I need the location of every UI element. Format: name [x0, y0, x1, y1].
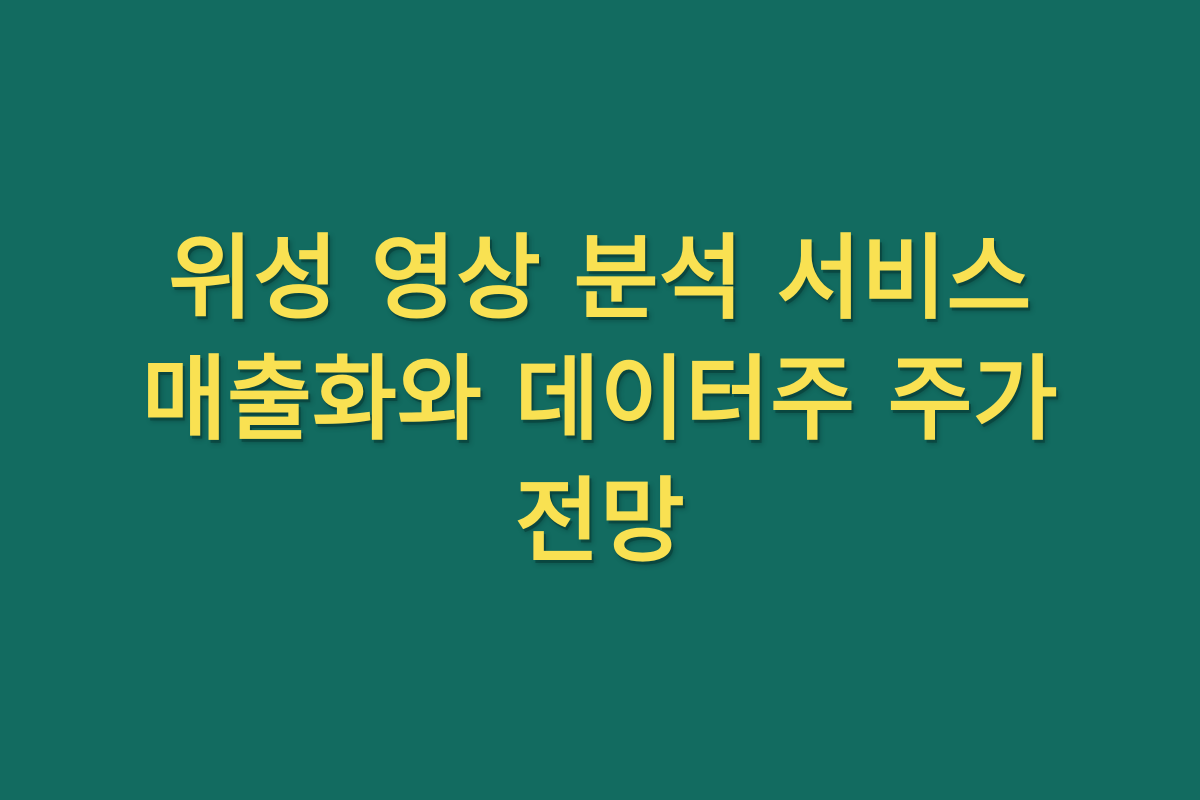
page-title-line-3: 전망 [80, 461, 1120, 582]
page-title: 위성 영상 분석 서비스 매출화와 데이터주 주가 전망 [80, 218, 1120, 582]
page-title-line-1: 위성 영상 분석 서비스 [80, 218, 1120, 339]
title-card: 위성 영상 분석 서비스 매출화와 데이터주 주가 전망 [0, 0, 1200, 800]
page-title-line-2: 매출화와 데이터주 주가 [80, 339, 1120, 460]
